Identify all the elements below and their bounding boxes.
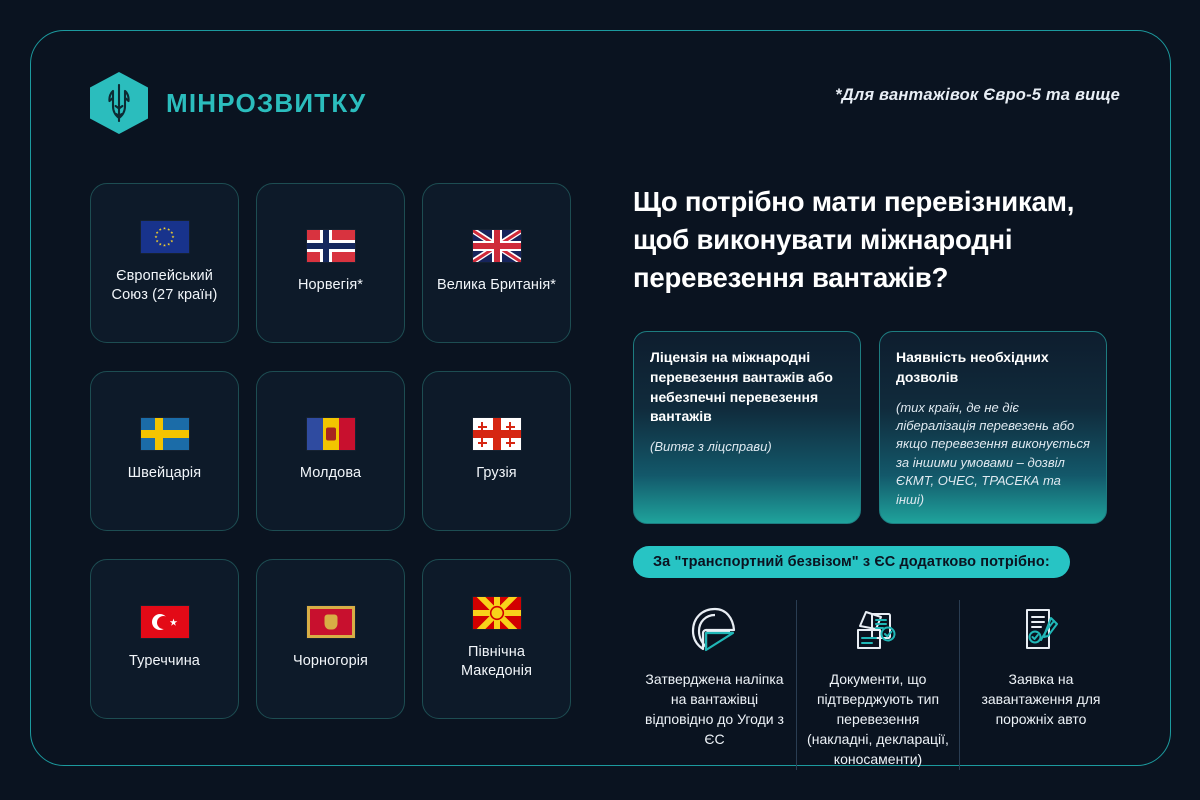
flag-united-kingdom-icon <box>473 230 521 262</box>
country-label: Швейцарія <box>128 464 201 483</box>
requirement-title: Наявність необхідних дозволів <box>896 348 1090 388</box>
flag-norway-icon <box>307 230 355 262</box>
country-card[interactable]: Грузія <box>422 371 571 531</box>
country-grid: Європейський Союз (27 країн)Норвегія*Вел… <box>90 183 571 719</box>
country-card[interactable]: Туреччина <box>90 559 239 719</box>
requirement-boxes: Ліцензія на міжнародні перевезення ванта… <box>633 331 1123 524</box>
country-label: Європейський Союз (27 країн) <box>99 267 230 305</box>
extras-section: Затверджена наліпка на вантажівці відпов… <box>633 600 1123 769</box>
application-form-pen-icon <box>1015 600 1067 656</box>
extra-item: Документи, що підтверджують тип перевезе… <box>796 600 959 769</box>
flag-north-macedonia-icon <box>473 597 521 629</box>
country-label: Велика Британія* <box>437 276 556 295</box>
country-card[interactable]: Європейський Союз (27 країн) <box>90 183 239 343</box>
requirement-subtitle: (Витяг з ліцсправи) <box>650 438 844 456</box>
country-card[interactable]: Швейцарія <box>90 371 239 531</box>
brand-logo[interactable]: МІНРОЗВИТКУ <box>90 72 366 134</box>
country-card[interactable]: Норвегія* <box>256 183 405 343</box>
documents-check-icon <box>850 600 906 656</box>
status-badge: За "транспортний безвізом" з ЄС додатков… <box>633 546 1070 578</box>
extra-text: Документи, що підтверджують тип перевезе… <box>805 670 951 769</box>
country-card[interactable]: Молдова <box>256 371 405 531</box>
extra-text: Заявка на завантаження для порожніх авто <box>968 670 1114 730</box>
country-label: Чорногорія <box>293 652 368 671</box>
country-card[interactable]: Велика Британія* <box>422 183 571 343</box>
flag-european-union-icon <box>141 221 189 253</box>
country-label: Туреччина <box>129 652 200 671</box>
flag-turkey-icon <box>141 606 189 638</box>
country-card[interactable]: Чорногорія <box>256 559 405 719</box>
header-note: *Для вантажівок Євро-5 та вище <box>835 86 1120 105</box>
country-card[interactable]: Північна Македонія <box>422 559 571 719</box>
brand-name: МІНРОЗВИТКУ <box>166 88 366 119</box>
sticker-label-icon <box>689 600 741 656</box>
requirement-card: Ліцензія на міжнародні перевезення ванта… <box>633 331 861 524</box>
flag-sweden-icon <box>141 418 189 450</box>
requirement-title: Ліцензія на міжнародні перевезення ванта… <box>650 348 844 428</box>
flag-montenegro-icon <box>307 606 355 638</box>
requirement-subtitle: (тих країн, де не діє лібералізація пере… <box>896 399 1090 510</box>
requirement-card: Наявність необхідних дозволів (тих країн… <box>879 331 1107 524</box>
flag-moldova-icon <box>307 418 355 450</box>
flag-georgia-icon <box>473 418 521 450</box>
ukraine-trident-hexagon-icon <box>90 72 148 134</box>
extra-item: Затверджена наліпка на вантажівці відпов… <box>633 600 796 769</box>
country-label: Грузія <box>476 464 517 483</box>
page-title: Що потрібно мати перевізникам, щоб викон… <box>633 183 1123 297</box>
extra-text: Затверджена наліпка на вантажівці відпов… <box>641 670 788 750</box>
extra-item: Заявка на завантаження для порожніх авто <box>959 600 1122 769</box>
country-label: Норвегія* <box>298 276 363 295</box>
right-column: Що потрібно мати перевізникам, щоб викон… <box>633 183 1123 770</box>
header: МІНРОЗВИТКУ *Для вантажівок Євро-5 та ви… <box>90 72 1120 134</box>
country-label: Північна Македонія <box>431 643 562 681</box>
country-label: Молдова <box>300 464 361 483</box>
